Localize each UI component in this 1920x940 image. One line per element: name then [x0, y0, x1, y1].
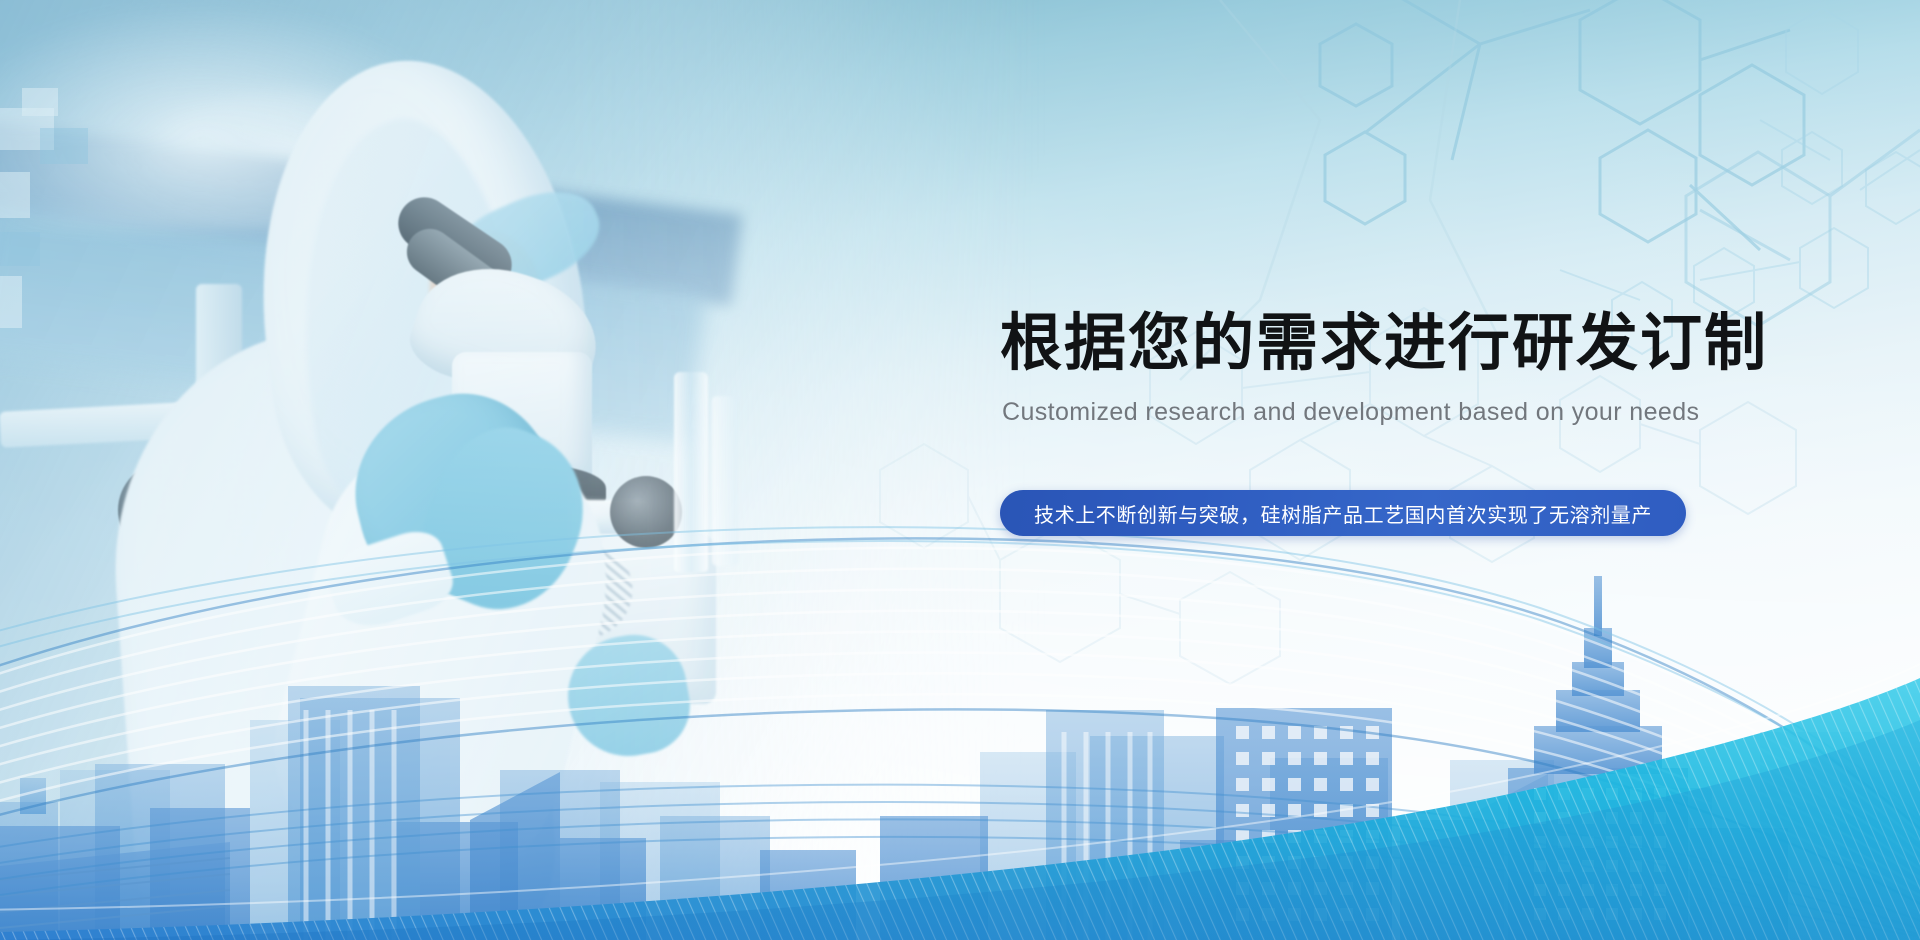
page-title: 根据您的需求进行研发订制 [1000, 312, 1740, 375]
hero-banner: 根据您的需求进行研发订制 Customized research and dev… [0, 0, 1920, 940]
page-subtitle: Customized research and development base… [1002, 397, 1740, 427]
hero-copy: 根据您的需求进行研发订制 Customized research and dev… [1000, 312, 1740, 427]
tagline-text: 技术上不断创新与突破，硅树脂产品工艺国内首次实现了无溶剂量产 [1034, 499, 1652, 528]
cyan-corner-swoosh [0, 610, 1920, 940]
tagline-badge: 技术上不断创新与突破，硅树脂产品工艺国内首次实现了无溶剂量产 [1000, 490, 1686, 536]
